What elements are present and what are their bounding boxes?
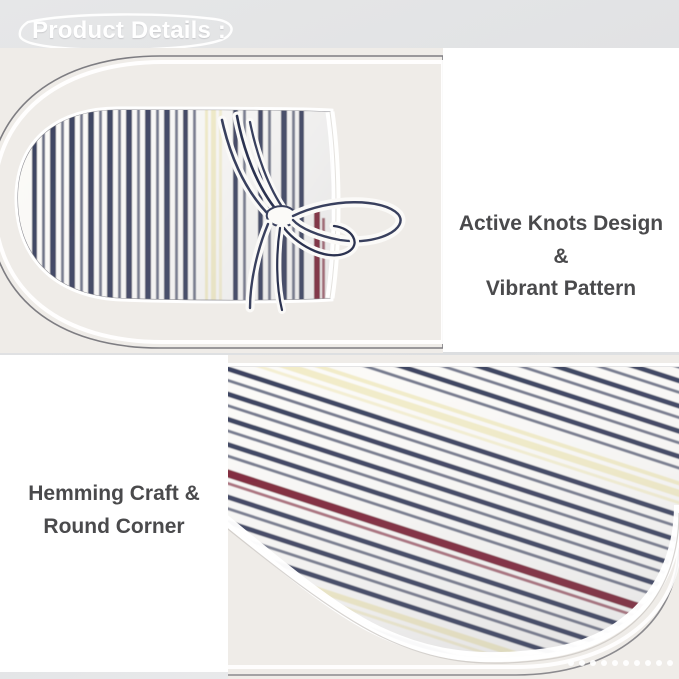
page-title: Product Details : xyxy=(32,17,226,45)
panel-photo-corner[interactable] xyxy=(228,355,679,679)
carousel-dot[interactable] xyxy=(634,660,640,666)
carousel-dot[interactable] xyxy=(656,660,662,666)
carousel-dots[interactable] xyxy=(568,660,673,666)
caption-hemming: Hemming Craft & Round Corner xyxy=(0,478,228,543)
panel-caption-knots: Active Knots Design & Vibrant Pattern xyxy=(443,48,679,352)
carousel-dot[interactable] xyxy=(667,660,673,666)
carousel-dot[interactable] xyxy=(579,660,585,666)
carousel-dot[interactable] xyxy=(590,660,596,666)
caption-knots: Active Knots Design & Vibrant Pattern xyxy=(443,208,679,306)
caption-knots-line2: Vibrant Pattern xyxy=(486,277,636,300)
panel-caption-hemming: Hemming Craft & Round Corner xyxy=(0,355,228,672)
carousel-dot[interactable] xyxy=(645,660,651,666)
panel-photo-knot[interactable] xyxy=(0,48,443,353)
product-details-page: Product Details : xyxy=(0,0,679,679)
carousel-dot[interactable] xyxy=(601,660,607,666)
caption-hemming-line2: Round Corner xyxy=(43,515,184,538)
carousel-dot[interactable] xyxy=(623,660,629,666)
cushion-knot-illustration xyxy=(0,48,443,353)
carousel-dot[interactable] xyxy=(612,660,618,666)
carousel-dot[interactable] xyxy=(568,660,574,666)
caption-hemming-line1: Hemming Craft & xyxy=(28,482,200,505)
cushion-corner-illustration xyxy=(228,355,679,679)
caption-knots-line1: Active Knots Design & xyxy=(459,212,663,268)
